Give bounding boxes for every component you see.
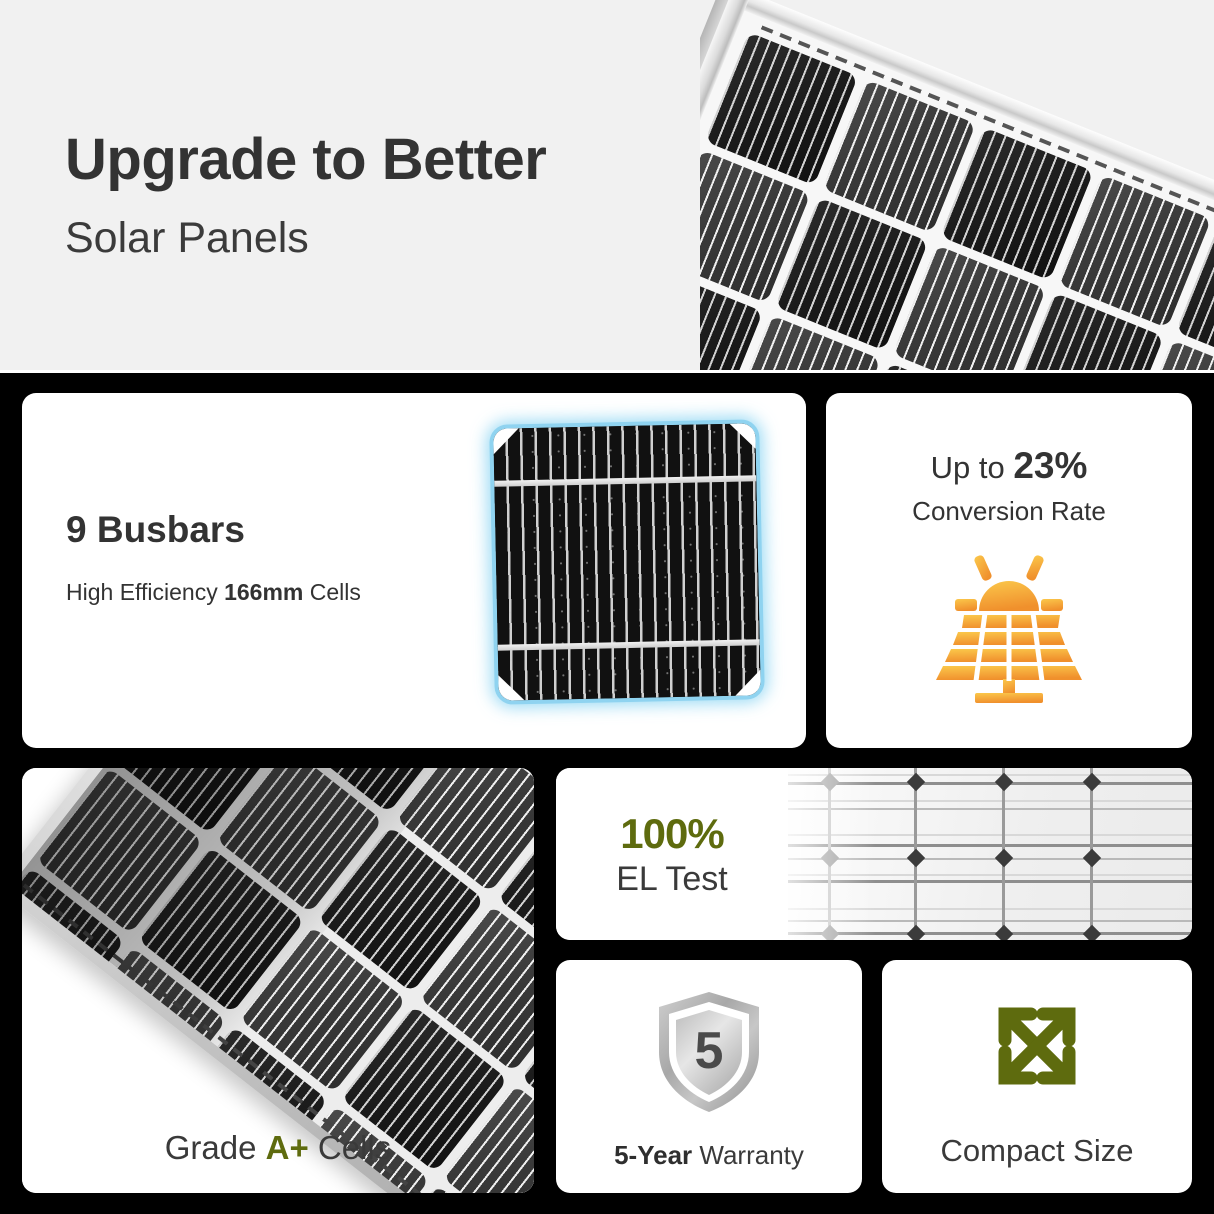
el-test-label: EL Test <box>616 860 728 899</box>
busbars-sub-bold: 166mm <box>224 579 303 605</box>
hero-panel-photo <box>700 0 1214 373</box>
card-conversion-rate: Up to 23% Conversion Rate <box>826 393 1192 748</box>
grade-cells-label: Grade A+ Cells <box>22 1129 534 1167</box>
shield-icon: 5 <box>653 990 765 1114</box>
card-grade-cells: Grade A+ Cells <box>22 768 534 1193</box>
grade-label-bold: A+ <box>266 1129 309 1166</box>
expand-arrows-icon <box>985 994 1089 1098</box>
page-subtitle: Solar Panels <box>65 214 546 263</box>
busbars-sub-suffix: Cells <box>303 579 361 605</box>
solar-panel-sun-icon <box>918 553 1100 703</box>
el-test-text-block: 100% EL Test <box>556 768 788 940</box>
conversion-head-prefix: Up to <box>931 450 1014 485</box>
grade-label-suffix: Cells <box>309 1129 392 1166</box>
busbars-text-block: 9 Busbars High Efficiency 166mm Cells <box>66 509 361 606</box>
features-section: 9 Busbars High Efficiency 166mm Cells <box>0 373 1214 1214</box>
section-divider <box>0 370 1214 373</box>
card-busbars: 9 Busbars High Efficiency 166mm Cells <box>22 393 806 748</box>
hero-section: Upgrade to Better Solar Panels <box>0 0 1214 373</box>
el-test-percent: 100% <box>620 810 723 858</box>
busbars-subtitle: High Efficiency 166mm Cells <box>66 579 361 606</box>
busbars-title: 9 Busbars <box>66 509 361 551</box>
el-test-scan-image <box>756 768 1192 940</box>
warranty-label-bold: 5-Year <box>614 1140 692 1170</box>
shield-number: 5 <box>695 1022 724 1080</box>
infographic-page: Upgrade to Better Solar Panels 9 Busbars… <box>0 0 1214 1214</box>
grade-label-prefix: Grade <box>165 1129 266 1166</box>
cell-solder-dots <box>493 423 761 700</box>
warranty-label-suffix: Warranty <box>692 1140 804 1170</box>
conversion-head-value: 23% <box>1013 445 1087 486</box>
solar-panel-render <box>700 0 1214 373</box>
warranty-label: 5-Year Warranty <box>556 1140 862 1171</box>
solar-cell-body <box>493 423 761 700</box>
solar-cell-closeup <box>472 413 782 713</box>
busbars-sub-prefix: High Efficiency <box>66 579 224 605</box>
card-warranty: 5 5-Year Warranty <box>556 960 862 1193</box>
conversion-headline: Up to 23% <box>826 445 1192 487</box>
conversion-subtitle: Conversion Rate <box>826 496 1192 527</box>
page-title: Upgrade to Better <box>65 128 546 192</box>
panel-glass <box>700 11 1214 373</box>
hero-text-block: Upgrade to Better Solar Panels <box>65 128 546 263</box>
card-el-test: 100% EL Test <box>556 768 1192 940</box>
compact-size-label: Compact Size <box>882 1133 1192 1169</box>
card-compact-size: Compact Size <box>882 960 1192 1193</box>
